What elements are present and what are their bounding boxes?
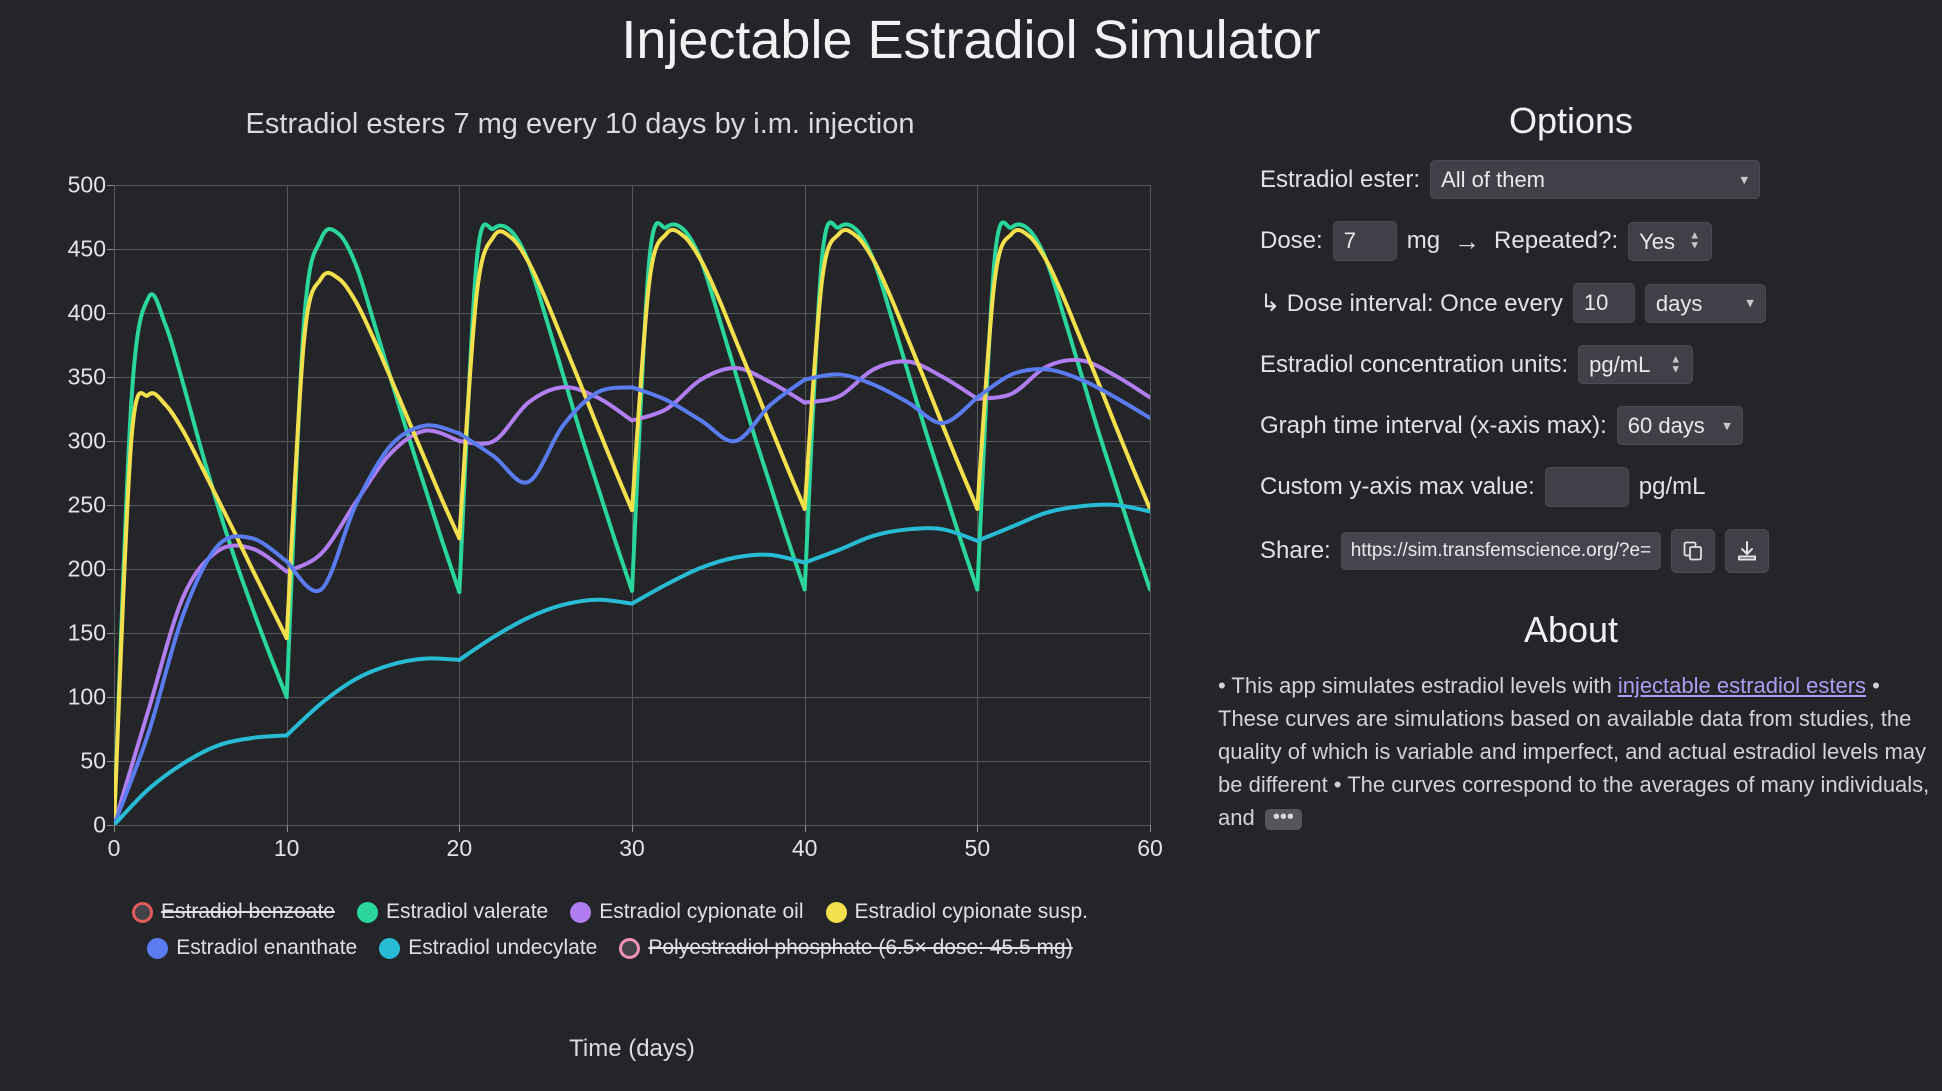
legend-item-label: Estradiol cypionate oil: [599, 900, 803, 924]
y-tick-mark: [107, 185, 114, 186]
options-panel: Options Estradiol ester: All of them ▾ D…: [1200, 100, 1942, 1090]
y-tick-label: 350: [68, 364, 106, 391]
y-tick-mark: [107, 633, 114, 634]
units-select[interactable]: pg/mLpmol/L: [1578, 345, 1693, 384]
interval-unit-select[interactable]: daysweeksmonths: [1645, 284, 1766, 323]
curve-5: [459, 600, 632, 660]
y-tick-mark: [107, 505, 114, 506]
curve-2: [805, 361, 978, 402]
curve-4: [977, 369, 1150, 418]
y-tick-mark: [107, 825, 114, 826]
x-tick-mark: [805, 825, 806, 832]
x-tick-mark: [459, 825, 460, 832]
curve-3: [287, 273, 460, 638]
legend-item[interactable]: Estradiol cypionate oil: [570, 900, 803, 924]
x-tick-label: 30: [619, 835, 645, 862]
x-tick-mark: [632, 825, 633, 832]
y-tick-label: 450: [68, 236, 106, 263]
y-tick-label: 200: [68, 556, 106, 583]
legend-item[interactable]: Estradiol valerate: [357, 900, 548, 924]
y-tick-label: 300: [68, 428, 106, 455]
about-heading: About: [1200, 609, 1942, 651]
y-tick-mark: [107, 441, 114, 442]
legend-item-label: Estradiol enanthate: [176, 936, 357, 960]
x-tick-mark: [1150, 825, 1151, 832]
legend-color-dot: [619, 938, 640, 959]
repeated-label: Repeated?:: [1494, 227, 1618, 255]
option-row-share: Share:: [1260, 529, 1942, 573]
ester-select[interactable]: All of them: [1430, 160, 1760, 199]
x-tick-label: 0: [108, 835, 121, 862]
curve-1: [287, 229, 460, 697]
ester-select-wrap: All of them ▾: [1430, 160, 1760, 199]
interval-input[interactable]: [1573, 283, 1635, 323]
curve-2: [459, 387, 632, 444]
option-row-ester: Estradiol ester: All of them ▾: [1260, 160, 1942, 199]
app-root: Injectable Estradiol Simulator Estradiol…: [0, 0, 1942, 1091]
units-label: Estradiol concentration units:: [1260, 351, 1568, 379]
y-tick-mark: [107, 249, 114, 250]
curve-layer: [114, 185, 1150, 825]
curve-1: [977, 222, 1150, 589]
x-tick-mark: [114, 825, 115, 832]
x-tick-mark: [287, 825, 288, 832]
legend-color-dot: [826, 902, 847, 923]
curve-1: [632, 223, 805, 591]
legend-color-dot: [357, 902, 378, 923]
y-tick-label: 150: [68, 620, 106, 647]
curve-4: [114, 536, 287, 825]
curve-3: [805, 230, 978, 509]
ymax-input[interactable]: [1545, 467, 1629, 507]
expand-about-button[interactable]: •••: [1265, 809, 1302, 830]
curve-1: [805, 222, 978, 589]
legend-item[interactable]: Estradiol cypionate susp.: [826, 900, 1088, 924]
legend-color-dot: [147, 938, 168, 959]
legend-item-label: Estradiol cypionate susp.: [855, 900, 1088, 924]
legend-item[interactable]: Estradiol benzoate: [132, 900, 335, 924]
legend-color-dot: [379, 938, 400, 959]
curve-1: [459, 224, 632, 592]
curve-5: [805, 528, 978, 562]
option-row-time-interval: Graph time interval (x-axis max): 60 day…: [1260, 406, 1942, 445]
y-tick-label: 250: [68, 492, 106, 519]
copy-button[interactable]: [1671, 529, 1715, 573]
curve-5: [114, 735, 287, 825]
y-tick-label: 400: [68, 300, 106, 327]
x-tick-label: 10: [274, 835, 300, 862]
x-tick-mark: [977, 825, 978, 832]
injectable-estradiol-esters-link[interactable]: injectable estradiol esters: [1618, 673, 1866, 698]
legend-item-label: Estradiol valerate: [386, 900, 548, 924]
dose-input[interactable]: [1333, 221, 1397, 261]
y-tick-label: 50: [80, 748, 106, 775]
dose-unit-label: mg: [1407, 227, 1440, 255]
share-label: Share:: [1260, 537, 1331, 565]
legend-item[interactable]: Estradiol enanthate: [147, 936, 357, 960]
legend-item[interactable]: Estradiol undecylate: [379, 936, 597, 960]
legend-row-2: Estradiol enanthateEstradiol undecylateP…: [80, 936, 1140, 960]
repeated-select[interactable]: YesNo: [1628, 222, 1712, 261]
legend-item-label: Polyestradiol phosphate (6.5× dose: 45.5…: [648, 936, 1072, 960]
time-interval-label: Graph time interval (x-axis max):: [1260, 412, 1607, 440]
chart-title: Estradiol esters 7 mg every 10 days by i…: [0, 108, 1160, 141]
y-tick-label: 0: [93, 812, 106, 839]
plot-area: 0501001502002503003504004505000102030405…: [114, 185, 1150, 825]
ymax-unit-label: pg/mL: [1639, 473, 1706, 501]
legend-item-label: Estradiol undecylate: [408, 936, 597, 960]
option-row-ymax: Custom y-axis max value: pg/mL: [1260, 467, 1942, 507]
ymax-label: Custom y-axis max value:: [1260, 473, 1535, 501]
curve-3: [459, 231, 632, 538]
option-row-dose: Dose: mg → Repeated?: YesNo ▲▼: [1260, 221, 1942, 261]
dose-label: Dose:: [1260, 227, 1323, 255]
about-bullet1-pre: • This app simulates estradiol levels wi…: [1218, 673, 1618, 698]
curve-5: [632, 555, 805, 604]
ester-label: Estradiol ester:: [1260, 166, 1420, 194]
y-tick-mark: [107, 761, 114, 762]
units-select-wrap: pg/mLpmol/L ▲▼: [1578, 345, 1693, 384]
chart-panel: Estradiol esters 7 mg every 10 days by i…: [0, 100, 1195, 1090]
x-tick-label: 50: [965, 835, 991, 862]
interval-unit-select-wrap: daysweeksmonths ▾: [1645, 284, 1766, 323]
legend-color-dot: [570, 902, 591, 923]
y-tick-mark: [107, 313, 114, 314]
y-tick-label: 500: [68, 172, 106, 199]
options-heading: Options: [1200, 100, 1942, 142]
x-tick-label: 20: [447, 835, 473, 862]
time-interval-select[interactable]: 60 days: [1617, 406, 1743, 445]
legend-item[interactable]: Polyestradiol phosphate (6.5× dose: 45.5…: [619, 936, 1072, 960]
legend-row-1: Estradiol benzoateEstradiol valerateEstr…: [80, 900, 1140, 924]
page-title: Injectable Estradiol Simulator: [0, 6, 1942, 74]
chart-legend: Estradiol benzoateEstradiol valerateEstr…: [80, 900, 1140, 972]
time-interval-select-wrap: 60 days ▾: [1617, 406, 1743, 445]
curve-3: [977, 230, 1150, 509]
about-text: • This app simulates estradiol levels wi…: [1218, 669, 1932, 834]
y-tick-label: 100: [68, 684, 106, 711]
y-tick-mark: [107, 697, 114, 698]
share-url-input[interactable]: [1341, 532, 1661, 570]
legend-item-label: Estradiol benzoate: [161, 900, 335, 924]
interval-prefix-label: ↳ Dose interval: Once every: [1260, 289, 1563, 318]
download-button[interactable]: [1725, 529, 1769, 573]
plot-border: [1150, 185, 1151, 825]
x-tick-label: 40: [792, 835, 818, 862]
curve-2: [287, 430, 460, 571]
option-row-units: Estradiol concentration units: pg/mLpmol…: [1260, 345, 1942, 384]
arrow-right-icon: →: [1450, 226, 1484, 257]
copy-icon: [1681, 539, 1705, 563]
curve-5: [287, 658, 460, 735]
y-tick-mark: [107, 377, 114, 378]
y-tick-mark: [107, 569, 114, 570]
option-row-interval: ↳ Dose interval: Once every daysweeksmon…: [1260, 283, 1942, 323]
repeated-select-wrap: YesNo ▲▼: [1628, 222, 1712, 261]
x-axis-title: Time (days): [114, 1035, 1150, 1063]
x-tick-label: 60: [1137, 835, 1163, 862]
legend-color-dot: [132, 902, 153, 923]
download-icon: [1735, 539, 1759, 563]
